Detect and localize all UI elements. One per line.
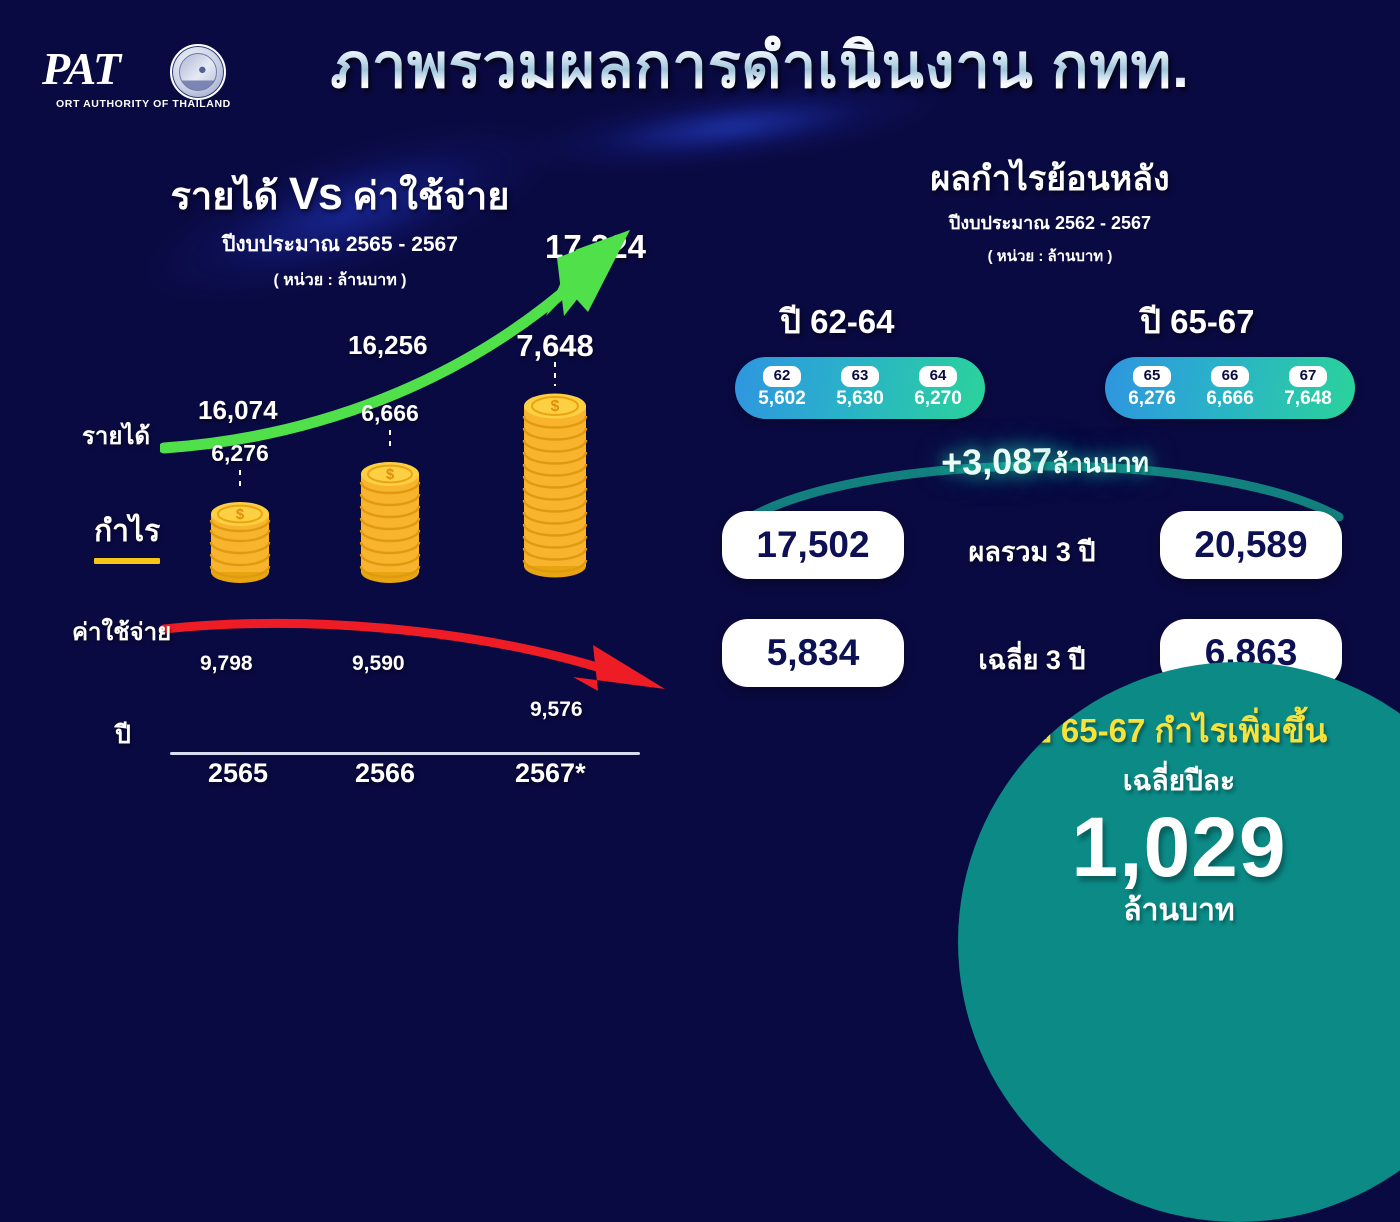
leader-line-2567 (554, 362, 556, 386)
profit-value-2567: 7,648 (516, 328, 594, 364)
year-cell-64: 64 6,270 (914, 366, 962, 410)
profit-value-2565: 6,276 (211, 440, 269, 467)
highlight-unit: ล้านบาท (958, 887, 1400, 934)
coin-stack-2567: 7,648 $ (510, 372, 600, 587)
coin-stack-icon-2565: $ (200, 478, 280, 588)
year-badge-66: 66 (1211, 366, 1250, 387)
year-cell-65: 65 6,276 (1128, 366, 1176, 410)
svg-text:$: $ (551, 398, 560, 415)
axis-label-revenue: รายได้ (82, 416, 150, 455)
avg-3y-left-box: 5,834 (722, 619, 904, 687)
highlight-line2: เฉลี่ยปีละ (958, 759, 1400, 803)
expense-value-2566: 9,590 (352, 652, 405, 676)
svg-text:$: $ (386, 466, 395, 483)
year-amount-65: 6,276 (1128, 388, 1176, 410)
axis-label-profit-text: กำไร (94, 515, 160, 548)
svg-text:$: $ (236, 506, 245, 523)
year-badge-62: 62 (763, 366, 802, 387)
highlight-circle: ปี 65-67 กำไรเพิ่มขึ้น เฉลี่ยปีละ 1,029 … (958, 662, 1400, 1222)
revenue-up-arrow-icon (160, 220, 700, 470)
year-badge-67: 67 (1289, 366, 1328, 387)
left-heading-line: รายได้ Vs ค่าใช้จ่าย (60, 168, 620, 220)
highlight-value: 1,029 (958, 805, 1400, 889)
total-3y-right-box: 20,589 (1160, 511, 1342, 579)
axis-label-profit: กำไร (94, 508, 160, 564)
year-badge-63: 63 (841, 366, 880, 387)
highlight-content: ปี 65-67 กำไรเพิ่มขึ้น เฉลี่ยปีละ 1,029 … (958, 662, 1400, 984)
highlight-line1: ปี 65-67 กำไรเพิ่มขึ้น (958, 704, 1400, 757)
expense-value-2565: 9,798 (200, 652, 253, 676)
year-cell-62: 62 5,602 (758, 366, 806, 410)
right-title: ผลกำไรย้อนหลัง (730, 160, 1370, 199)
year-label-2566: 2566 (355, 758, 415, 789)
profit-underline (94, 558, 160, 564)
logo-subtitle: ORT AUTHORITY OF THAILAND (56, 98, 231, 110)
year-cell-63: 63 5,630 (836, 366, 884, 410)
revenue-expense-chart: 16,074 16,256 17,224 รายได้ กำไร ค่าใช้จ… (60, 230, 680, 790)
coin-stack-2566: 6,666 $ (350, 438, 430, 593)
profit-value-2566: 6,666 (361, 400, 419, 427)
expense-down-arrow-icon (160, 605, 700, 695)
group-heading-62-64: ปี 62-64 (780, 295, 895, 348)
year-amount-66: 6,666 (1206, 388, 1254, 410)
group-heading-65-67: ปี 65-67 (1140, 295, 1255, 348)
year-cell-66: 66 6,666 (1206, 366, 1254, 410)
year-badge-65: 65 (1133, 366, 1172, 387)
leader-line-2565 (239, 470, 241, 492)
chart-baseline (170, 752, 640, 755)
leader-line-2566 (389, 430, 391, 452)
year-amount-67: 7,648 (1284, 388, 1332, 410)
infographic-canvas: PAT ORT AUTHORITY OF THAILAND ภาพรวมผลกา… (0, 0, 1400, 942)
year-label-2565: 2565 (208, 758, 268, 789)
coin-stack-icon-2567: $ (510, 372, 600, 582)
axis-label-year: ปี (115, 715, 131, 755)
left-heading-revenue: รายได้ (171, 176, 279, 218)
expense-value-2567: 9,576 (530, 698, 583, 722)
year-amount-64: 6,270 (914, 388, 962, 410)
year-cell-67: 67 7,648 (1284, 366, 1332, 410)
total-3y-left-box: 17,502 (722, 511, 904, 579)
year-pill-65-67: 65 6,276 66 6,666 67 7,648 (1105, 357, 1355, 419)
year-pill-62-64: 62 5,602 63 5,630 64 6,270 (735, 357, 985, 419)
right-subtitle: ปีงบประมาณ 2562 - 2567 (730, 208, 1370, 237)
delta-unit: ล้านบาท (1052, 447, 1149, 479)
year-badge-64: 64 (919, 366, 958, 387)
year-amount-63: 5,630 (836, 388, 884, 410)
coin-stack-2565: 6,276 $ (200, 478, 280, 593)
axis-label-expense: ค่าใช้จ่าย (72, 612, 171, 651)
delta-amount: +3,087 (941, 440, 1053, 483)
year-amount-62: 5,602 (758, 388, 806, 410)
page-title: ภาพรวมผลการดำเนินงาน กทท. (0, 34, 1400, 99)
coin-stack-icon-2566: $ (350, 438, 430, 588)
right-section-heading: ผลกำไรย้อนหลัง ปีงบประมาณ 2562 - 2567 ( … (730, 160, 1370, 268)
right-unit: ( หน่วย : ล้านบาท ) (730, 244, 1370, 268)
year-label-2567: 2567* (515, 758, 586, 789)
left-heading-vs: Vs (289, 168, 342, 219)
total-3y-label: ผลรวม 3 ปี (907, 530, 1157, 573)
left-heading-expense: ค่าใช้จ่าย (353, 176, 510, 218)
